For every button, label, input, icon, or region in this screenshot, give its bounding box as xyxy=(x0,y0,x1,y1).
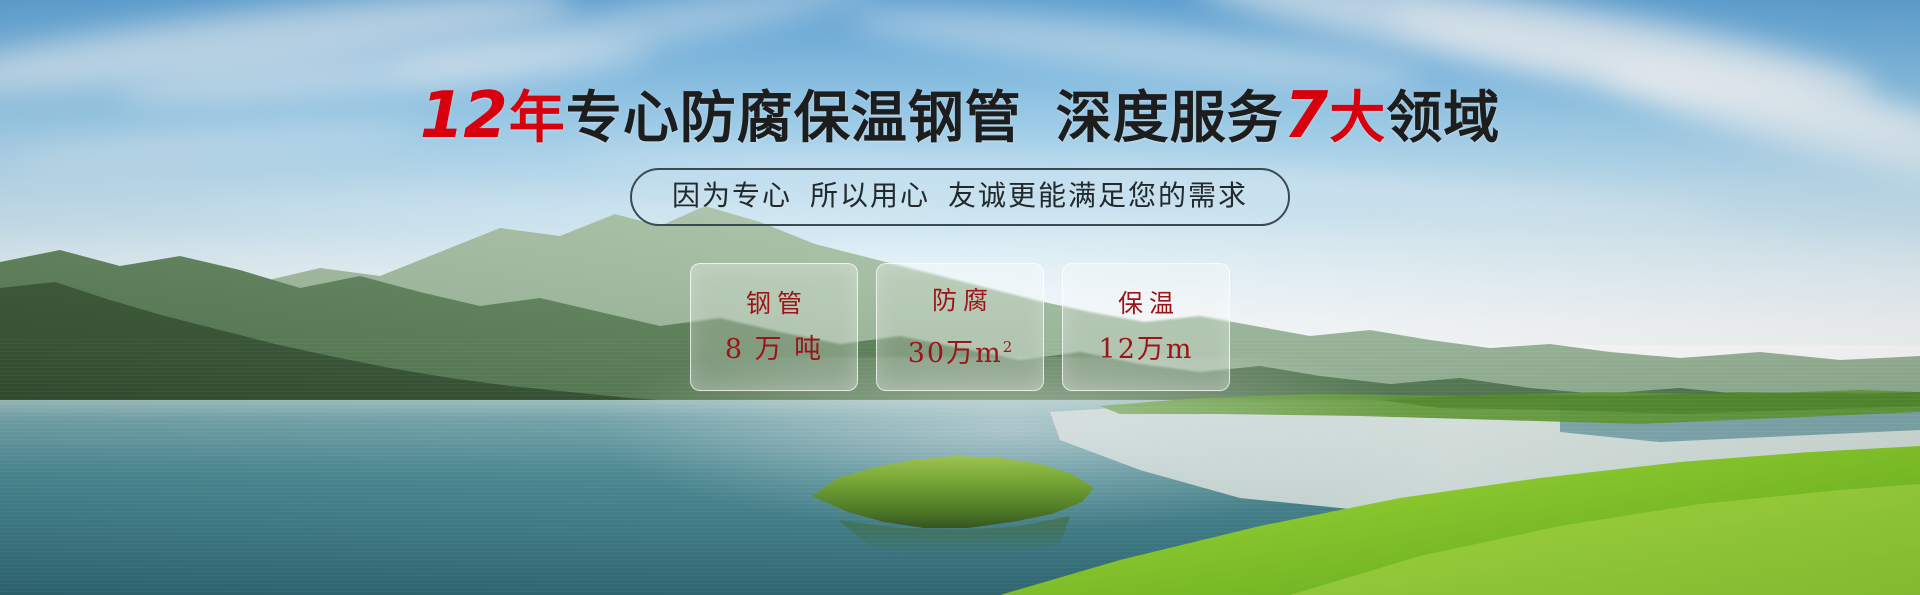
stat-card-value: 30万m2 xyxy=(908,332,1013,369)
headline-tail: 领域 xyxy=(1386,86,1500,151)
tagline-part-1: 因为专心 xyxy=(672,179,792,212)
headline-lead-number: 12 xyxy=(420,79,509,153)
headline-lead-suffix: 年 xyxy=(509,86,566,151)
stats-card-group: 钢管 8 万 吨 防腐 30万m2 保温 12万m xyxy=(690,263,1230,391)
stat-card-value-text: 8 万 吨 xyxy=(725,334,823,365)
hero-banner: 12年专心防腐保温钢管深度服务7大领域 因为专心所以用心友诚更能满足您的需求 钢… xyxy=(0,0,1920,595)
headline-main: 专心防腐保温钢管 xyxy=(566,86,1022,151)
tagline-container: 因为专心所以用心友诚更能满足您的需求 xyxy=(0,168,1920,226)
stat-card-title: 防腐 xyxy=(926,286,994,316)
tagline-part-3: 友诚更能满足您的需求 xyxy=(948,179,1248,212)
stat-card-value-superscript: 2 xyxy=(1003,338,1013,356)
stat-card-title: 钢管 xyxy=(740,289,808,319)
page-title: 12年专心防腐保温钢管深度服务7大领域 xyxy=(0,86,1920,149)
headline-accent-number: 7 xyxy=(1284,79,1330,153)
stat-card-anticorrosion: 防腐 30万m2 xyxy=(876,263,1044,391)
tagline-pill: 因为专心所以用心友诚更能满足您的需求 xyxy=(630,168,1290,226)
tagline-part-2: 所以用心 xyxy=(810,179,930,212)
stat-card-value: 12万m xyxy=(1099,335,1194,365)
stat-card-value: 8 万 吨 xyxy=(725,335,823,365)
stat-card-title: 保温 xyxy=(1112,289,1180,319)
stat-card-insulation: 保温 12万m xyxy=(1062,263,1230,391)
headline-second: 深度服务 xyxy=(1056,86,1284,151)
stat-card-value-text: 30万m xyxy=(908,338,1003,369)
headline-accent-suffix: 大 xyxy=(1329,86,1386,151)
stat-card-value-text: 12万m xyxy=(1099,334,1194,365)
stat-card-steel-pipe: 钢管 8 万 吨 xyxy=(690,263,858,391)
banner-content: 12年专心防腐保温钢管深度服务7大领域 因为专心所以用心友诚更能满足您的需求 钢… xyxy=(0,0,1920,595)
